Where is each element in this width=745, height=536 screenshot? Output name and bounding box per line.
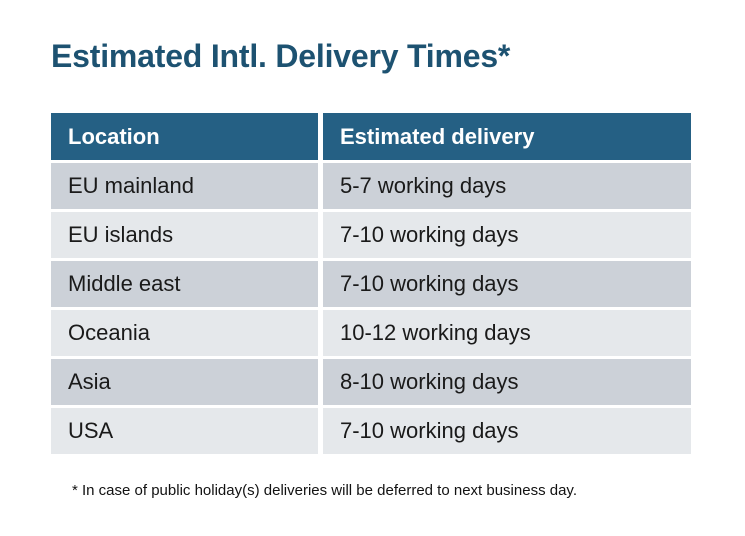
delivery-times-page: Estimated Intl. Delivery Times* Location…	[0, 0, 745, 536]
cell-estimated-delivery: 7-10 working days	[323, 261, 691, 307]
footnote-text: * In case of public holiday(s) deliverie…	[72, 481, 577, 501]
cell-estimated-delivery: 5-7 working days	[323, 163, 691, 209]
cell-estimated-delivery: 10-12 working days	[323, 310, 691, 356]
table-row: USA 7-10 working days	[51, 408, 691, 454]
column-header-location: Location	[51, 113, 318, 160]
page-title: Estimated Intl. Delivery Times*	[51, 36, 510, 76]
cell-location: Oceania	[51, 310, 318, 356]
cell-estimated-delivery: 7-10 working days	[323, 408, 691, 454]
table-header-row: Location Estimated delivery	[51, 113, 691, 160]
delivery-times-table: Location Estimated delivery EU mainland …	[51, 113, 691, 454]
cell-location: Asia	[51, 359, 318, 405]
cell-estimated-delivery: 8-10 working days	[323, 359, 691, 405]
table-row: Oceania 10-12 working days	[51, 310, 691, 356]
table-row: Asia 8-10 working days	[51, 359, 691, 405]
table-row: EU islands 7-10 working days	[51, 212, 691, 258]
table-row: EU mainland 5-7 working days	[51, 163, 691, 209]
cell-location: Middle east	[51, 261, 318, 307]
cell-estimated-delivery: 7-10 working days	[323, 212, 691, 258]
column-header-estimated-delivery: Estimated delivery	[323, 113, 691, 160]
cell-location: EU islands	[51, 212, 318, 258]
cell-location: EU mainland	[51, 163, 318, 209]
cell-location: USA	[51, 408, 318, 454]
table-row: Middle east 7-10 working days	[51, 261, 691, 307]
